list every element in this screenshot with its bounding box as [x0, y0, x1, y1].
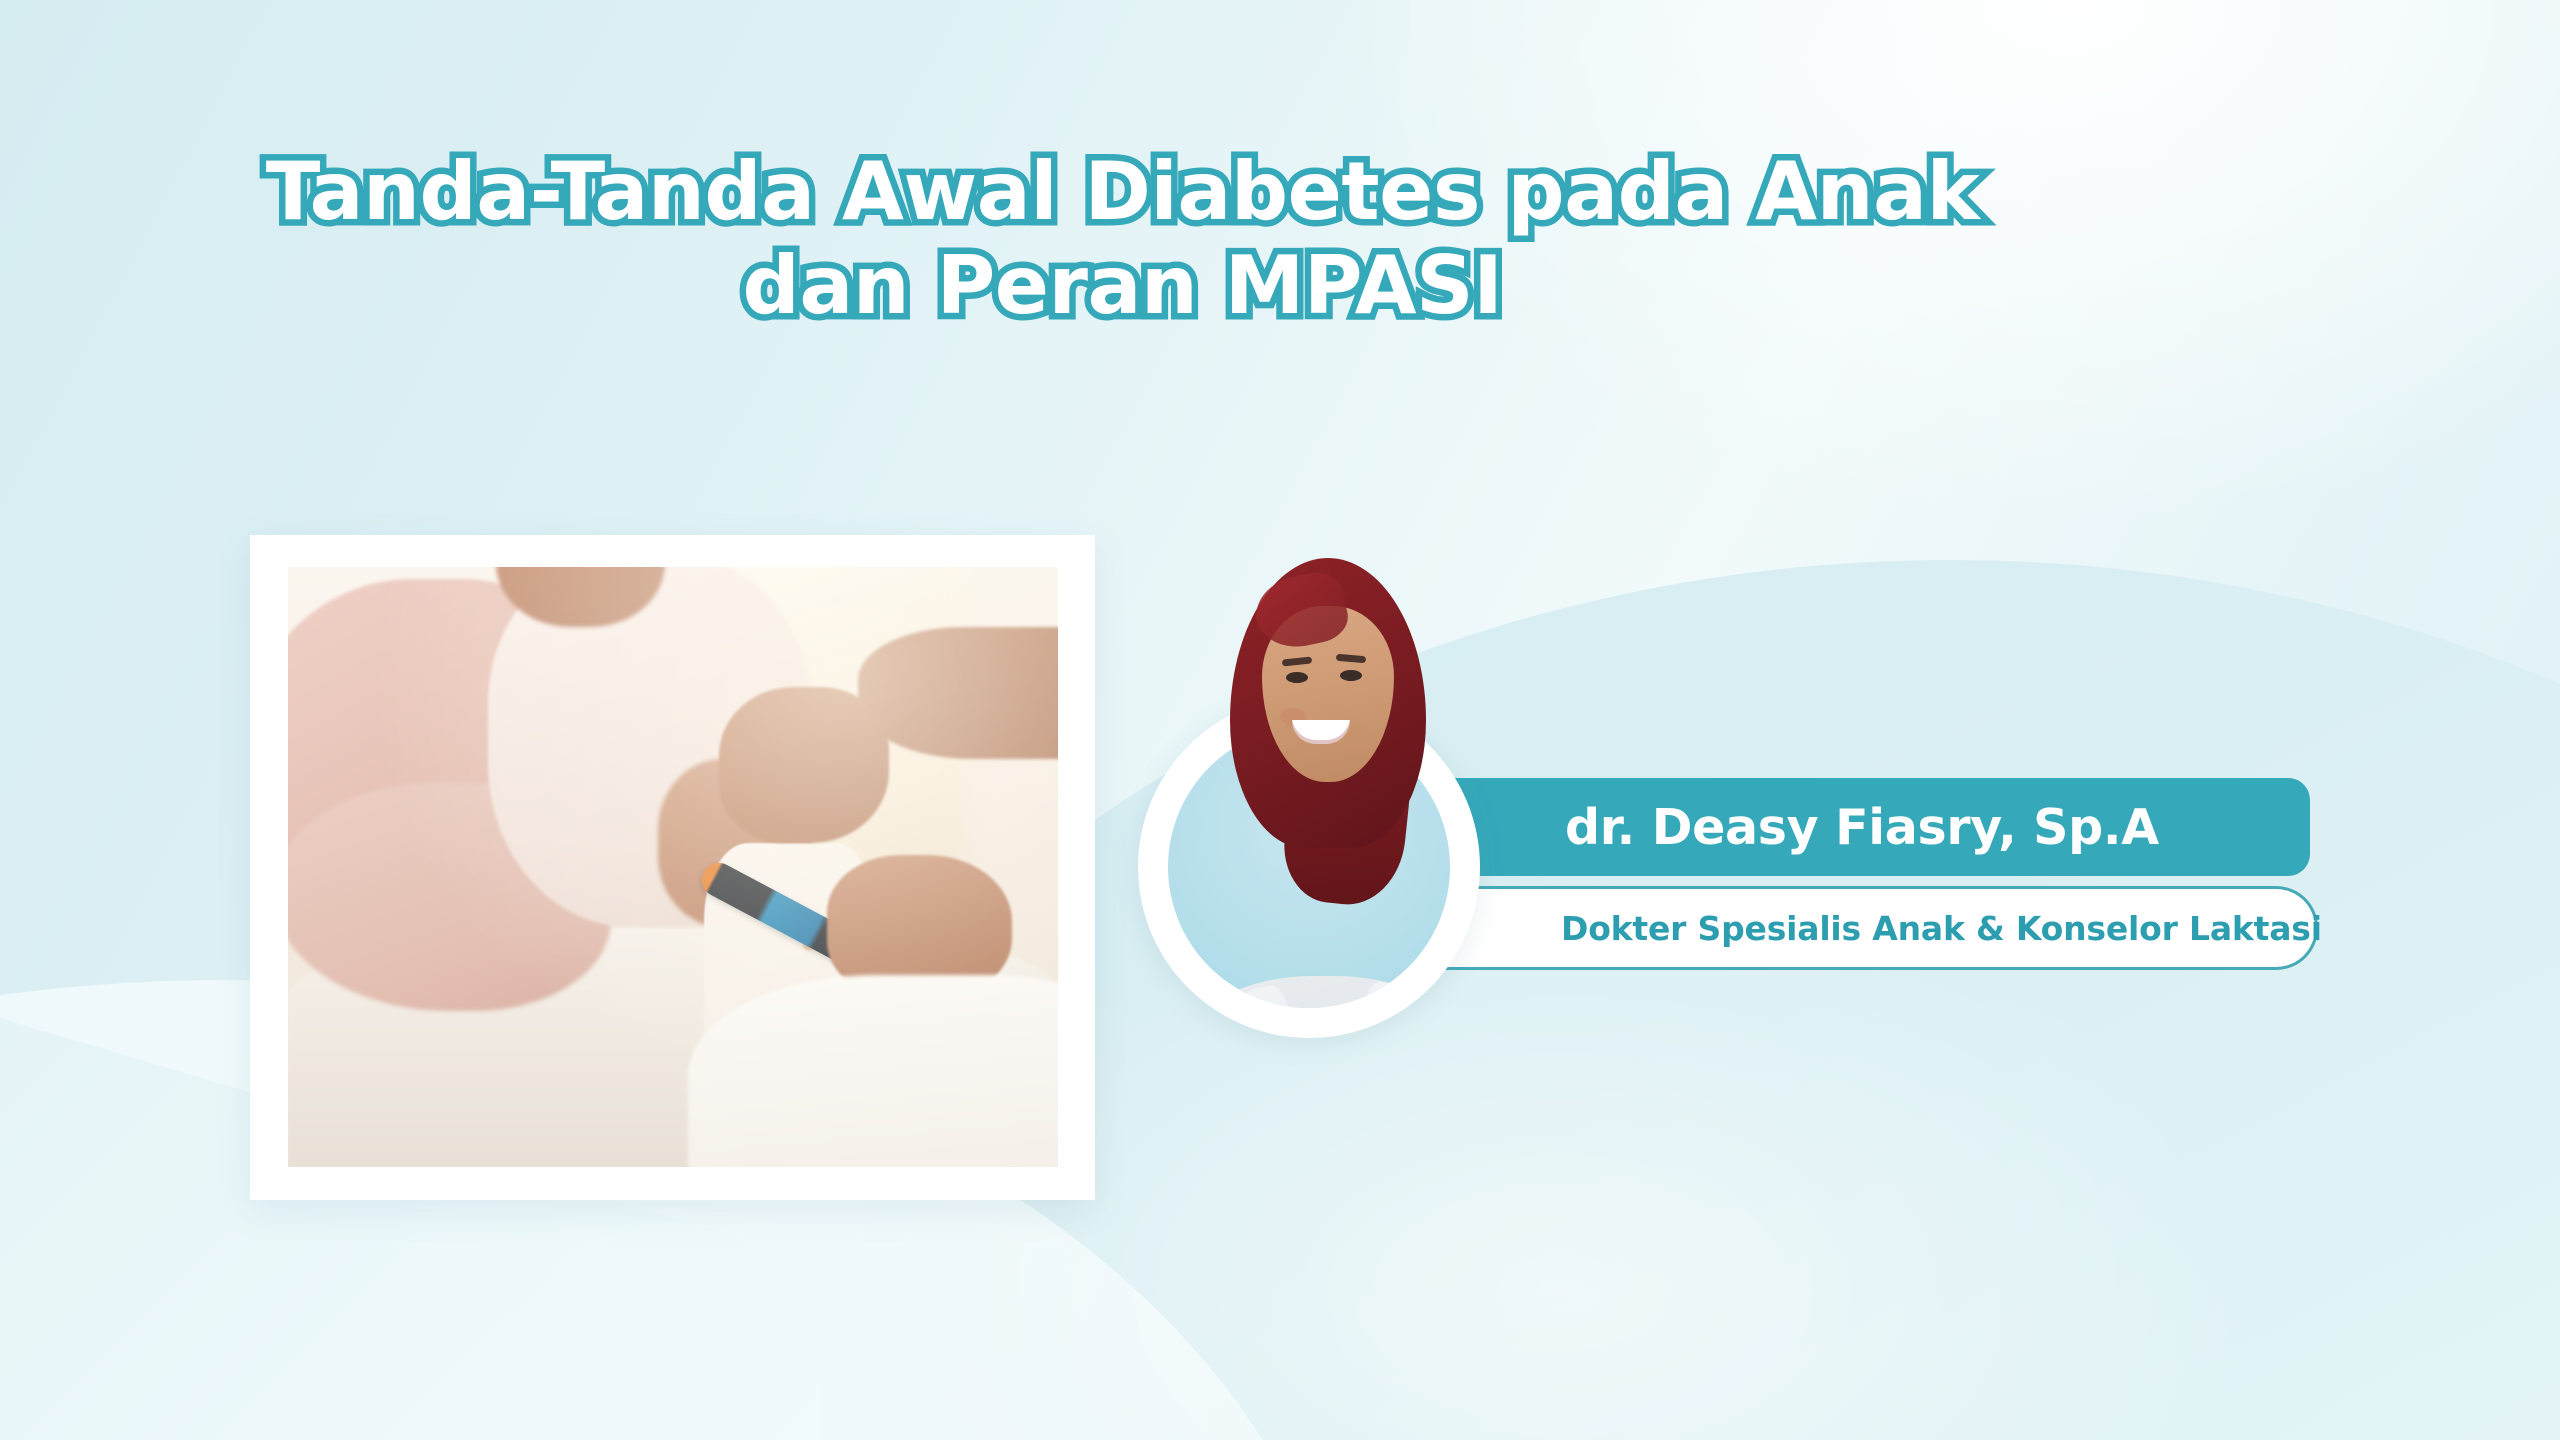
baby-injection-photo — [288, 567, 1058, 1167]
title-line-1: Tanda-Tanda Awal Diabetes pada Anak — [0, 145, 2245, 239]
photo-highlight-overlay — [288, 567, 1058, 1167]
speaker-role: Dokter Spesialis Anak & Konselor Laktasi — [1561, 909, 2322, 948]
portrait-eye-left — [1286, 672, 1308, 683]
slide-title: Tanda-Tanda Awal Diabetes pada Anak dan … — [0, 145, 2245, 332]
speaker-portrait — [1138, 548, 1638, 1068]
speaker-name: dr. Deasy Fiasry, Sp.A — [1565, 799, 2159, 856]
photo-frame — [250, 535, 1095, 1200]
portrait-eye-right — [1340, 670, 1362, 681]
portrait-head-group — [1164, 548, 1512, 1038]
presentation-slide: Tanda-Tanda Awal Diabetes pada Anak dan … — [0, 0, 2560, 1440]
title-line-2: dan Peran MPASI — [0, 239, 2245, 333]
